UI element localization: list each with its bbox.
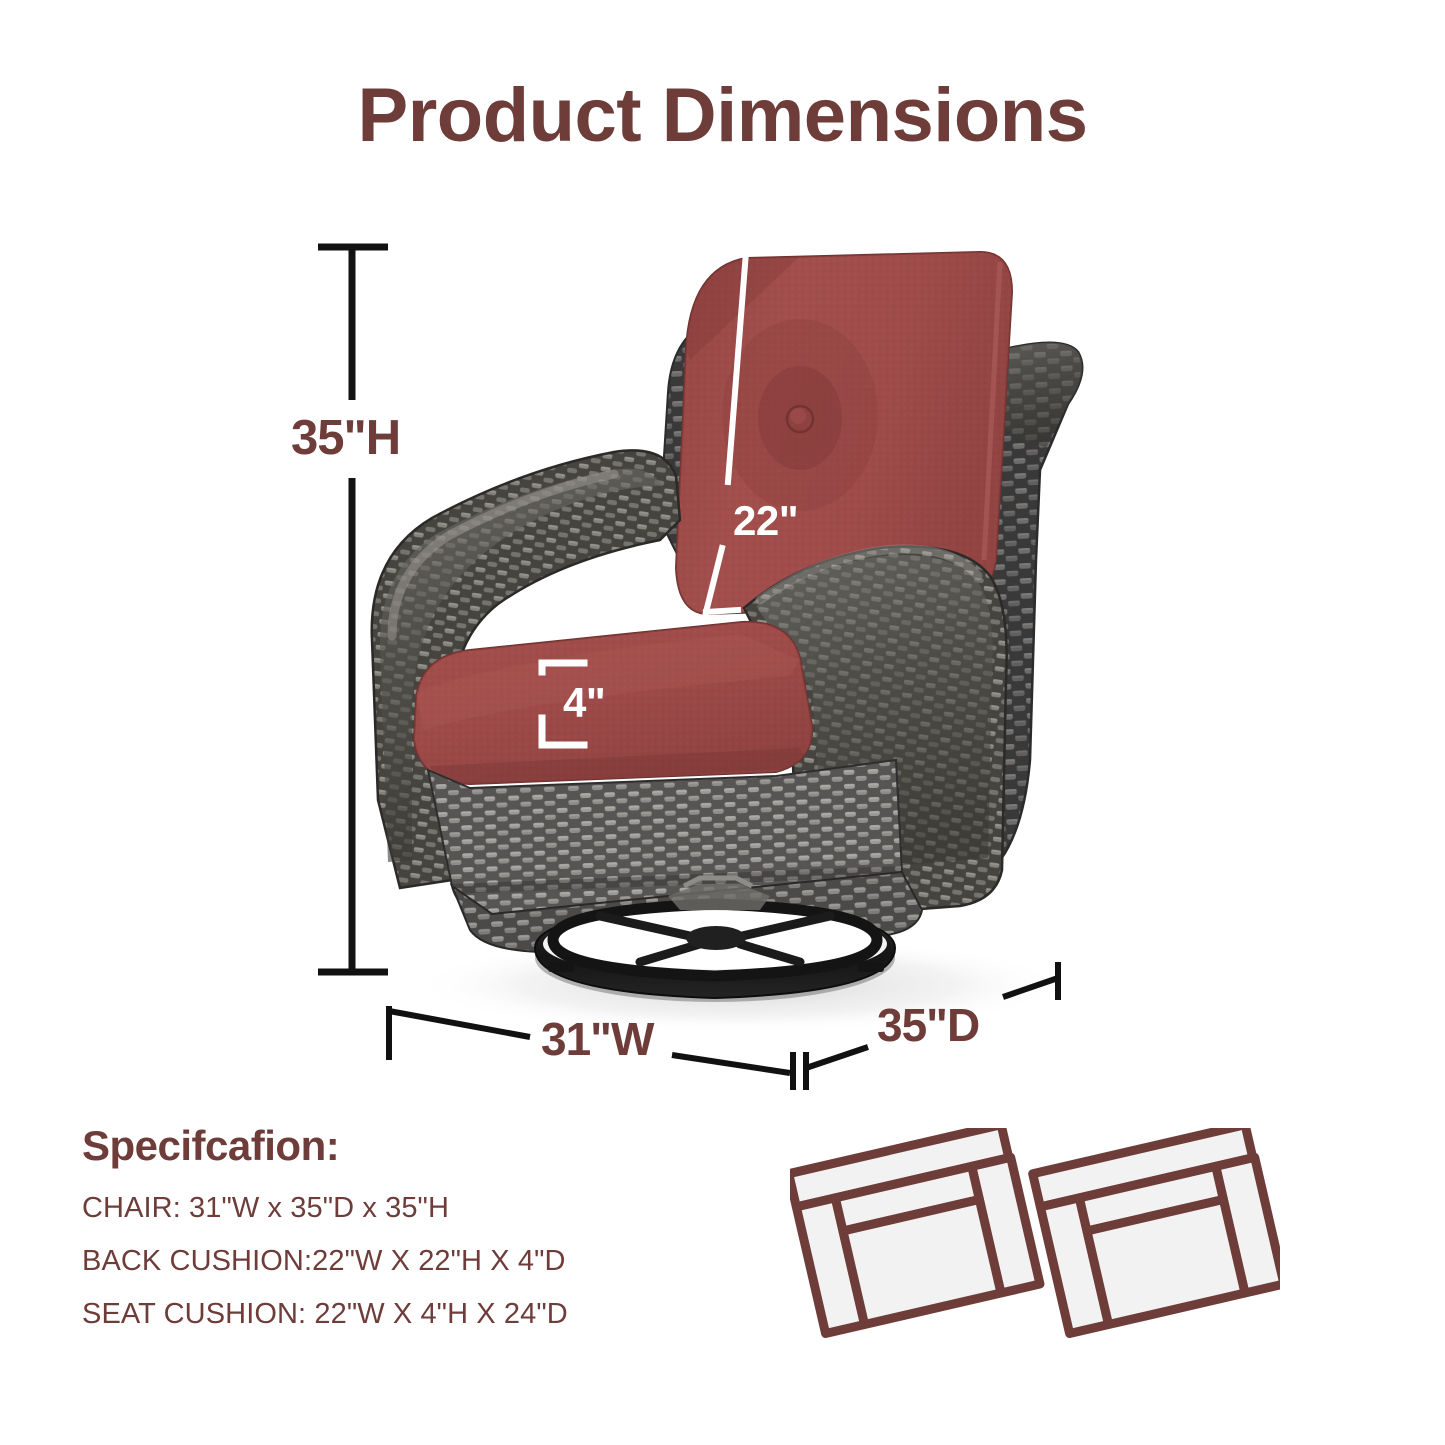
armchair-outline-icon [1033, 1128, 1280, 1334]
spec-line-seat-cushion: SEAT CUSHION: 22"W X 4"H X 24"D [82, 1298, 722, 1331]
height-dimension-label: 35"H [291, 410, 400, 466]
seat-cushion-thickness-label: 4" [563, 679, 605, 727]
spec-line-back-cushion: BACK CUSHION:22"W X 22"H X 4"D [82, 1245, 722, 1278]
spec-line-chair: CHAIR: 31"W x 35"D x 35"H [82, 1192, 722, 1225]
depth-dimension-label: 35"D [877, 998, 979, 1052]
specification-heading: Specifcafion: [82, 1122, 722, 1170]
specification-block: Specifcafion: CHAIR: 31"W x 35"D x 35"H … [82, 1122, 722, 1351]
height-dimension-line [318, 247, 388, 972]
product-dimensions-infographic: Product Dimensions [0, 0, 1445, 1445]
armchair-outline-icon [790, 1128, 1040, 1334]
page-title: Product Dimensions [0, 78, 1445, 154]
back-cushion-height-label: 22" [733, 497, 798, 545]
back-cushion-height-line [706, 252, 746, 612]
armchair-icon-pair [790, 1128, 1280, 1378]
width-dimension-label: 31"W [541, 1012, 653, 1066]
